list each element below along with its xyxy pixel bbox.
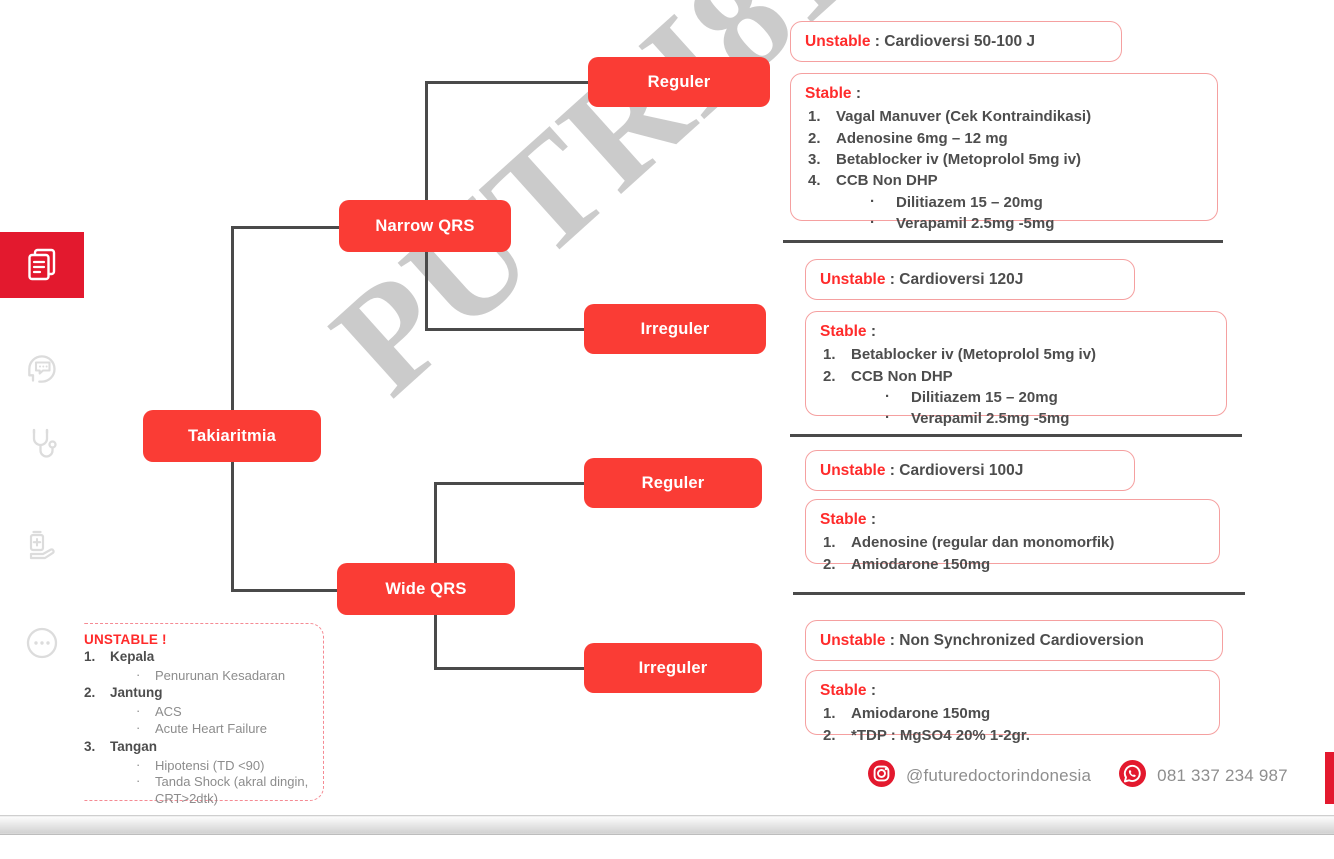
- head-speech-bubble-icon: [23, 348, 61, 386]
- ellipsis-circle-icon: [23, 624, 61, 662]
- stable-list: 1.Amiodarone 150mg 2.*TDP : MgSO4 20% 1-…: [820, 703, 1205, 746]
- item-text: Amiodarone 150mg: [851, 705, 990, 722]
- list-item: 1.Vagal Manuver (Cek Kontraindikasi): [805, 106, 1203, 127]
- list-item: 4.CCB Non DHP ·Dilitiazem 15 – 20mg ·Ver…: [805, 170, 1203, 234]
- stable-card-3: Stable : 1.Adenosine (regular dan monomo…: [805, 499, 1220, 564]
- group-divider-3: [793, 592, 1245, 595]
- item-number: 1.: [84, 648, 95, 667]
- unstable-line: Unstable : Cardioversi 100J: [820, 460, 1120, 482]
- stable-card-1: Stable : 1.Vagal Manuver (Cek Kontraindi…: [790, 73, 1218, 221]
- item-number: 4.: [808, 170, 821, 191]
- unstable-keyword: Unstable: [820, 271, 885, 288]
- sidebar-item-documents[interactable]: [0, 232, 84, 298]
- documents-icon: [25, 247, 59, 283]
- sub-text: Acute Heart Failure: [155, 721, 267, 736]
- horizontal-scrollbar[interactable]: [0, 815, 1334, 835]
- list-item: 3.Betablocker iv (Metoprolol 5mg iv): [805, 149, 1203, 170]
- stable-keyword: Stable: [820, 511, 867, 528]
- unstable-sep: :: [885, 271, 899, 288]
- item-text: Tangan: [110, 739, 157, 754]
- bullet-icon: ·: [136, 702, 140, 720]
- whatsapp-number: 081 337 234 987: [1157, 766, 1288, 786]
- legend-title: UNSTABLE !: [84, 632, 311, 647]
- unstable-text: Cardioversi 120J: [899, 271, 1023, 288]
- unstable-criteria-legend: UNSTABLE ! 1.Kepala ·Penurunan Kesadaran…: [71, 623, 324, 801]
- unstable-sep: :: [870, 33, 884, 50]
- sub-text: ACS: [155, 704, 182, 719]
- unstable-text: Cardioversi 100J: [899, 462, 1023, 479]
- group-divider-2: [790, 434, 1242, 437]
- item-number: 2.: [84, 684, 95, 703]
- unstable-keyword: Unstable: [820, 462, 885, 479]
- item-number: 3.: [808, 149, 821, 170]
- list-item: 1.Amiodarone 150mg: [820, 703, 1205, 724]
- list-item: 2.Jantung ·ACS ·Acute Heart Failure: [84, 684, 311, 738]
- group-divider-1: [783, 240, 1223, 243]
- node-label: Narrow QRS: [375, 217, 474, 236]
- connector-wide-to-reguler: [434, 482, 591, 485]
- instagram-handle: @futuredoctorindonesia: [906, 766, 1091, 786]
- bullet-icon: ·: [136, 666, 140, 684]
- sidebar: [0, 0, 84, 815]
- node-label: Irreguler: [641, 320, 710, 339]
- bullet-icon: ·: [885, 407, 890, 428]
- connector-wide-to-irreguler: [434, 667, 591, 670]
- sub-item: ·Penurunan Kesadaran: [110, 667, 311, 685]
- connector-to-narrow-qrs: [231, 226, 341, 229]
- connector-narrow-to-irreguler: [425, 328, 591, 331]
- stable-header: Stable :: [820, 509, 1205, 531]
- stable-card-4: Stable : 1.Amiodarone 150mg 2.*TDP : MgS…: [805, 670, 1220, 735]
- bullet-icon: ·: [136, 719, 140, 737]
- sub-list: ·Dilitiazem 15 – 20mg ·Verapamil 2.5mg -…: [851, 387, 1212, 430]
- connector-root-vertical: [231, 228, 234, 410]
- stable-sep: :: [867, 323, 876, 340]
- scrollbar-thumb[interactable]: [0, 817, 1334, 833]
- unstable-card-3: Unstable : Cardioversi 100J: [805, 450, 1135, 491]
- list-item: 2.Amiodarone 150mg: [820, 554, 1205, 575]
- node-narrow-reguler[interactable]: Reguler: [588, 57, 770, 107]
- unstable-line: Unstable : Cardioversi 120J: [820, 269, 1120, 291]
- sub-item: ·ACS: [110, 703, 311, 721]
- sub-text: Penurunan Kesadaran: [155, 668, 285, 683]
- pill-in-hand-icon: [23, 524, 61, 562]
- unstable-card-1: Unstable : Cardioversi 50-100 J: [790, 21, 1122, 62]
- list-item: 1.Adenosine (regular dan monomorfik): [820, 532, 1205, 553]
- list-item: 2.Adenosine 6mg – 12 mg: [805, 128, 1203, 149]
- stable-header: Stable :: [805, 83, 1203, 105]
- bullet-icon: ·: [885, 386, 890, 407]
- stethoscope-icon: [24, 425, 60, 463]
- item-number: 2.: [823, 725, 836, 746]
- item-text: Vagal Manuver (Cek Kontraindikasi): [836, 108, 1091, 125]
- node-narrow-qrs[interactable]: Narrow QRS: [339, 200, 511, 252]
- sub-item: ·Hipotensi (TD <90): [110, 757, 311, 775]
- item-text: *TDP : MgSO4 20% 1-2gr.: [851, 727, 1030, 744]
- app-root: PUTRI8193 Takiaritmia Narrow QRS Wide QR…: [0, 0, 1334, 859]
- bullet-icon: ·: [136, 773, 140, 790]
- sub-item: ·Acute Heart Failure: [110, 720, 311, 738]
- item-number: 2.: [823, 366, 836, 387]
- node-narrow-irreguler[interactable]: Irreguler: [584, 304, 766, 354]
- sub-list: ·Dilitiazem 15 – 20mg ·Verapamil 2.5mg -…: [836, 192, 1203, 235]
- list-item: 1.Betablocker iv (Metoprolol 5mg iv): [820, 344, 1212, 365]
- unstable-text: Cardioversi 50-100 J: [884, 33, 1035, 50]
- bullet-icon: ·: [870, 212, 875, 233]
- sub-item: ·Verapamil 2.5mg -5mg: [851, 408, 1212, 429]
- unstable-card-4: Unstable : Non Synchronized Cardioversio…: [805, 620, 1223, 661]
- node-wide-qrs[interactable]: Wide QRS: [337, 563, 515, 615]
- node-label: Irreguler: [639, 659, 708, 678]
- unstable-text: Non Synchronized Cardioversion: [899, 632, 1144, 649]
- stable-keyword: Stable: [820, 323, 867, 340]
- unstable-sep: :: [885, 632, 899, 649]
- connector-root-vertical-lower: [231, 462, 234, 591]
- list-item: 2.*TDP : MgSO4 20% 1-2gr.: [820, 725, 1205, 746]
- connector-narrow-to-reguler: [425, 81, 591, 84]
- stable-card-2: Stable : 1.Betablocker iv (Metoprolol 5m…: [805, 311, 1227, 416]
- stable-sep: :: [852, 85, 861, 102]
- contact-instagram[interactable]: @futuredoctorindonesia: [868, 760, 1091, 792]
- sidebar-item-more[interactable]: [0, 610, 84, 676]
- node-label: Reguler: [642, 474, 705, 493]
- item-text: Adenosine 6mg – 12 mg: [836, 130, 1008, 147]
- list-item: 3.Tangan ·Hipotensi (TD <90) ·Tanda Shoc…: [84, 738, 311, 808]
- item-text: Betablocker iv (Metoprolol 5mg iv): [851, 346, 1096, 363]
- sidebar-item-consultation[interactable]: [0, 334, 84, 400]
- item-text: CCB Non DHP: [851, 368, 953, 385]
- stable-keyword: Stable: [820, 682, 867, 699]
- sub-list: ·Penurunan Kesadaran: [110, 667, 311, 685]
- unstable-keyword: Unstable: [805, 33, 870, 50]
- stable-list: 1.Betablocker iv (Metoprolol 5mg iv) 2.C…: [820, 344, 1212, 429]
- stable-sep: :: [867, 511, 876, 528]
- stable-keyword: Stable: [805, 85, 852, 102]
- sub-list: ·ACS ·Acute Heart Failure: [110, 703, 311, 738]
- unstable-keyword: Unstable: [820, 632, 885, 649]
- sub-text: Dilitiazem 15 – 20mg: [896, 194, 1043, 211]
- legend-list: 1.Kepala ·Penurunan Kesadaran 2.Jantung …: [84, 648, 311, 808]
- item-text: Amiodarone 150mg: [851, 556, 990, 573]
- sidebar-item-medication[interactable]: [0, 510, 84, 576]
- sub-text: Verapamil 2.5mg -5mg: [911, 410, 1069, 427]
- item-number: 1.: [808, 106, 821, 127]
- item-number: 2.: [823, 554, 836, 575]
- sub-item: ·Dilitiazem 15 – 20mg: [836, 192, 1203, 213]
- item-number: 2.: [808, 128, 821, 149]
- node-wide-irreguler[interactable]: Irreguler: [584, 643, 762, 693]
- sub-item: ·Dilitiazem 15 – 20mg: [851, 387, 1212, 408]
- item-text: Betablocker iv (Metoprolol 5mg iv): [836, 151, 1081, 168]
- right-edge-accent: [1325, 752, 1334, 804]
- item-text: Jantung: [110, 685, 163, 700]
- unstable-card-2: Unstable : Cardioversi 120J: [805, 259, 1135, 300]
- list-item: 2.CCB Non DHP ·Dilitiazem 15 – 20mg ·Ver…: [820, 366, 1212, 430]
- node-label: Wide QRS: [385, 580, 466, 599]
- stable-sep: :: [867, 682, 876, 699]
- item-text: Adenosine (regular dan monomorfik): [851, 534, 1114, 551]
- footer-contacts: @futuredoctorindonesia 081 337 234 987: [868, 756, 1288, 796]
- item-text: Kepala: [110, 649, 154, 664]
- stable-list: 1.Adenosine (regular dan monomorfik) 2.A…: [820, 532, 1205, 575]
- sub-text: Tanda Shock (akral dingin, CRT>2dtk): [155, 774, 308, 806]
- node-takiaritmia[interactable]: Takiaritmia: [143, 410, 321, 462]
- connector-to-wide-qrs: [231, 589, 337, 592]
- slide-canvas: PUTRI8193 Takiaritmia Narrow QRS Wide QR…: [0, 0, 1334, 815]
- unstable-line: Unstable : Cardioversi 50-100 J: [805, 31, 1107, 53]
- item-number: 1.: [823, 532, 836, 553]
- sub-item: ·Tanda Shock (akral dingin, CRT>2dtk): [110, 774, 311, 808]
- bullet-icon: ·: [136, 756, 140, 774]
- node-wide-reguler[interactable]: Reguler: [584, 458, 762, 508]
- item-number: 3.: [84, 738, 95, 757]
- instagram-icon: [868, 760, 895, 792]
- item-number: 1.: [823, 703, 836, 724]
- item-text: CCB Non DHP: [836, 172, 938, 189]
- stable-list: 1.Vagal Manuver (Cek Kontraindikasi) 2.A…: [805, 106, 1203, 234]
- sidebar-item-examination[interactable]: [0, 411, 84, 477]
- contact-whatsapp[interactable]: 081 337 234 987: [1119, 760, 1288, 792]
- stable-header: Stable :: [820, 680, 1205, 702]
- bullet-icon: ·: [870, 191, 875, 212]
- sub-list: ·Hipotensi (TD <90) ·Tanda Shock (akral …: [110, 757, 311, 808]
- item-number: 1.: [823, 344, 836, 365]
- sub-item: ·Verapamil 2.5mg -5mg: [836, 213, 1203, 234]
- sub-text: Verapamil 2.5mg -5mg: [896, 215, 1054, 232]
- unstable-sep: :: [885, 462, 899, 479]
- stable-header: Stable :: [820, 321, 1212, 343]
- whatsapp-icon: [1119, 760, 1146, 792]
- node-label: Takiaritmia: [188, 427, 276, 446]
- list-item: 1.Kepala ·Penurunan Kesadaran: [84, 648, 311, 684]
- sub-text: Dilitiazem 15 – 20mg: [911, 389, 1058, 406]
- node-label: Reguler: [648, 73, 711, 92]
- unstable-line: Unstable : Non Synchronized Cardioversio…: [820, 630, 1208, 652]
- sub-text: Hipotensi (TD <90): [155, 758, 264, 773]
